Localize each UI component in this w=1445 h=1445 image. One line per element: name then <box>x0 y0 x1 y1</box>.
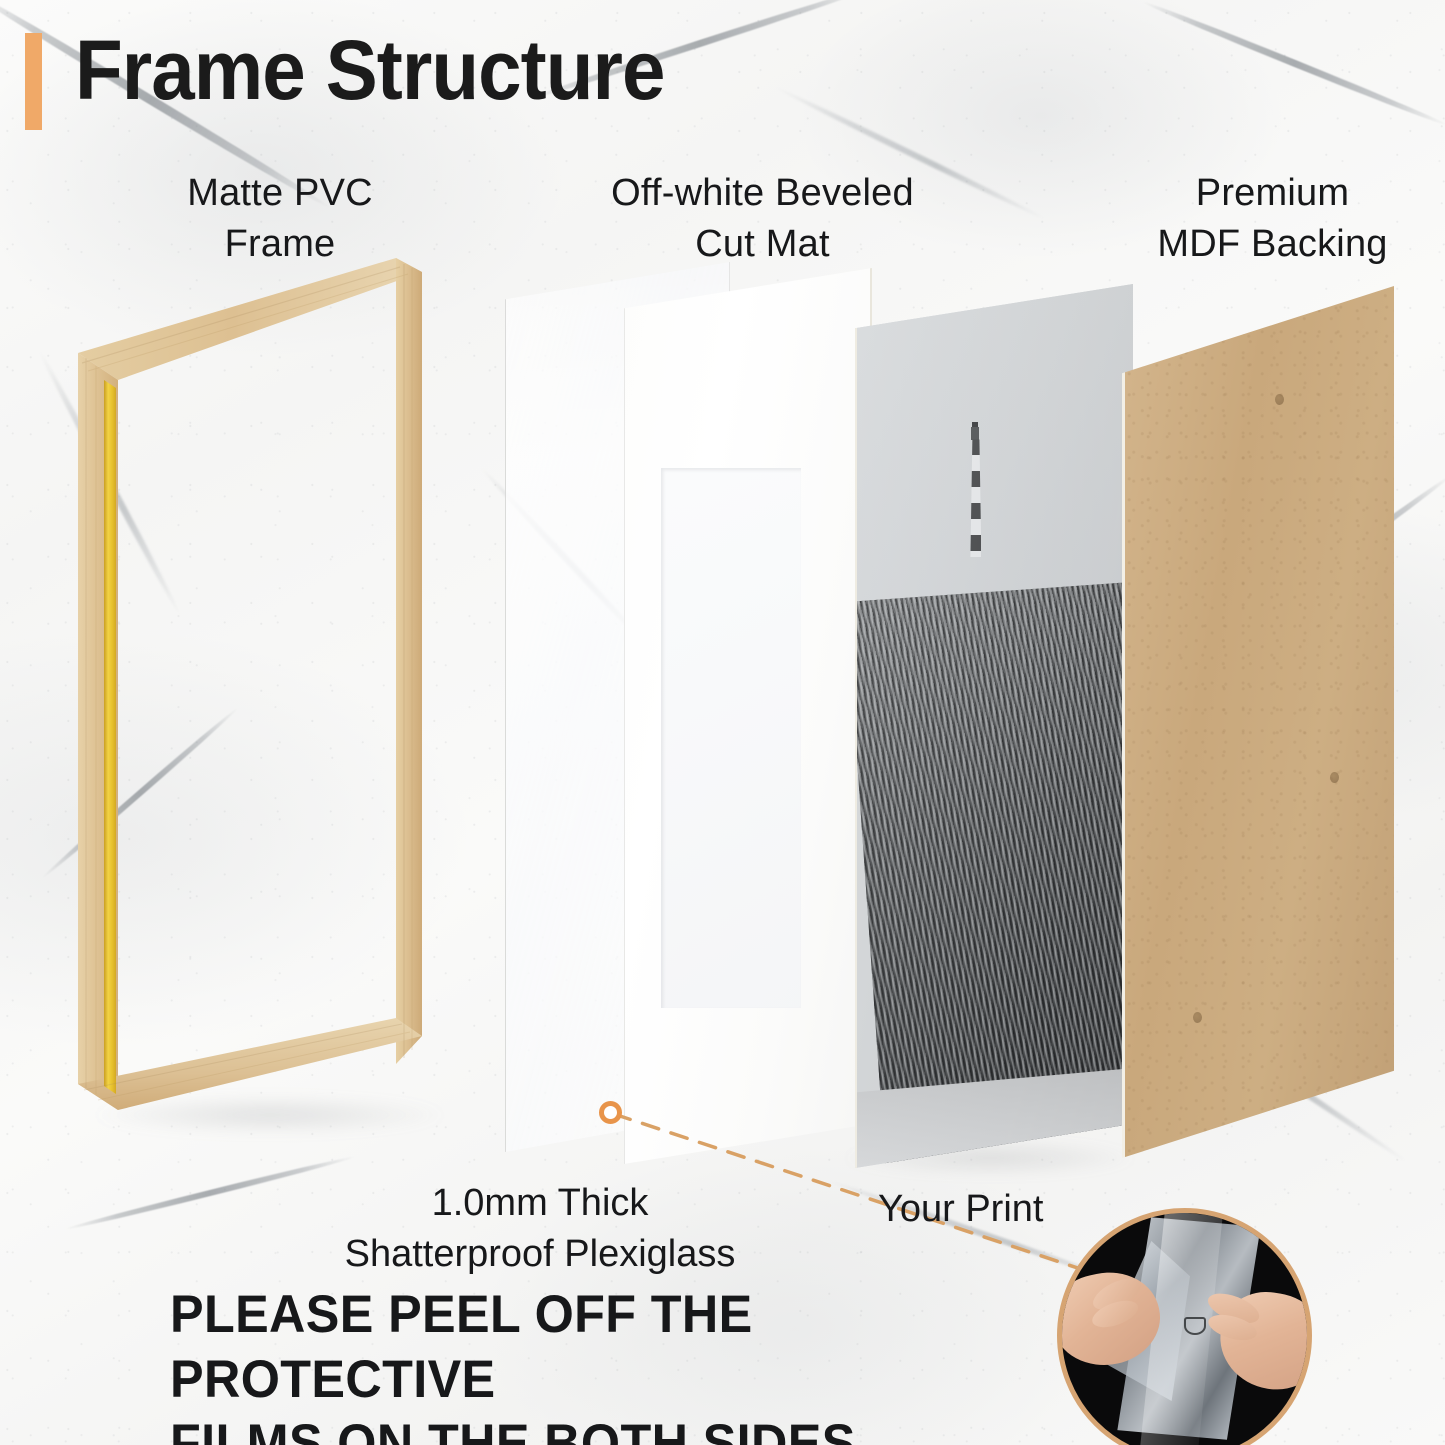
cta-line-2-highlight: BOTH SIDES <box>544 1414 856 1445</box>
title-accent-bar <box>25 33 42 130</box>
label-your-print: Your Print <box>878 1188 1043 1231</box>
mdf-speck <box>1193 1012 1202 1023</box>
frame-yellow-rabbet <box>104 380 116 1094</box>
label-matte-pvc-frame: Matte PVC Frame <box>115 168 445 269</box>
layer-matte-pvc-frame[interactable] <box>78 258 448 1118</box>
label-line: Off-white Beveled <box>545 168 980 219</box>
mat-window-opening <box>661 468 801 1008</box>
frame-wood-grain <box>82 264 412 1100</box>
inset-photo-peel-film[interactable] <box>1057 1208 1312 1445</box>
label-cut-mat: Off-white Beveled Cut Mat <box>545 168 980 269</box>
label-line: MDF Backing <box>1095 219 1445 270</box>
lighthouse-lamp <box>971 427 979 440</box>
cta-line-2: FILMS ON THE BOTH SIDES <box>170 1412 1006 1445</box>
label-line: 1.0mm Thick <box>250 1178 830 1229</box>
label-line: Shatterproof Plexiglass <box>250 1229 830 1280</box>
mdf-speck <box>1275 394 1284 405</box>
cta-line-1: PLEASE PEEL OFF THE PROTECTIVE <box>170 1283 1006 1412</box>
cta-line-2-plain: FILMS ON THE <box>170 1414 544 1445</box>
page-title: Frame Structure <box>75 26 665 114</box>
mdf-speck <box>1330 772 1339 783</box>
connector-dot <box>599 1101 622 1124</box>
cta-text: PLEASE PEEL OFF THE PROTECTIVE FILMS ON … <box>170 1283 1006 1445</box>
frame-svg <box>78 258 448 1118</box>
layer-mdf-backing[interactable] <box>1122 286 1394 1158</box>
frame-right-stile <box>396 258 422 1064</box>
label-mdf-backing: Premium MDF Backing <box>1095 168 1445 269</box>
lighthouse-icon <box>967 425 983 557</box>
label-plexiglass: 1.0mm Thick Shatterproof Plexiglass <box>250 1178 830 1279</box>
label-line: Matte PVC <box>115 168 445 219</box>
label-line: Cut Mat <box>545 219 980 270</box>
film-logo-icon <box>1184 1317 1206 1335</box>
lighthouse-tower <box>970 439 981 557</box>
label-line: Premium <box>1095 168 1445 219</box>
layer-your-print[interactable] <box>855 284 1133 1168</box>
infographic-canvas: Frame Structure Matte PVC Frame Off-whit… <box>0 0 1445 1445</box>
layer-cut-mat[interactable] <box>624 268 872 1164</box>
